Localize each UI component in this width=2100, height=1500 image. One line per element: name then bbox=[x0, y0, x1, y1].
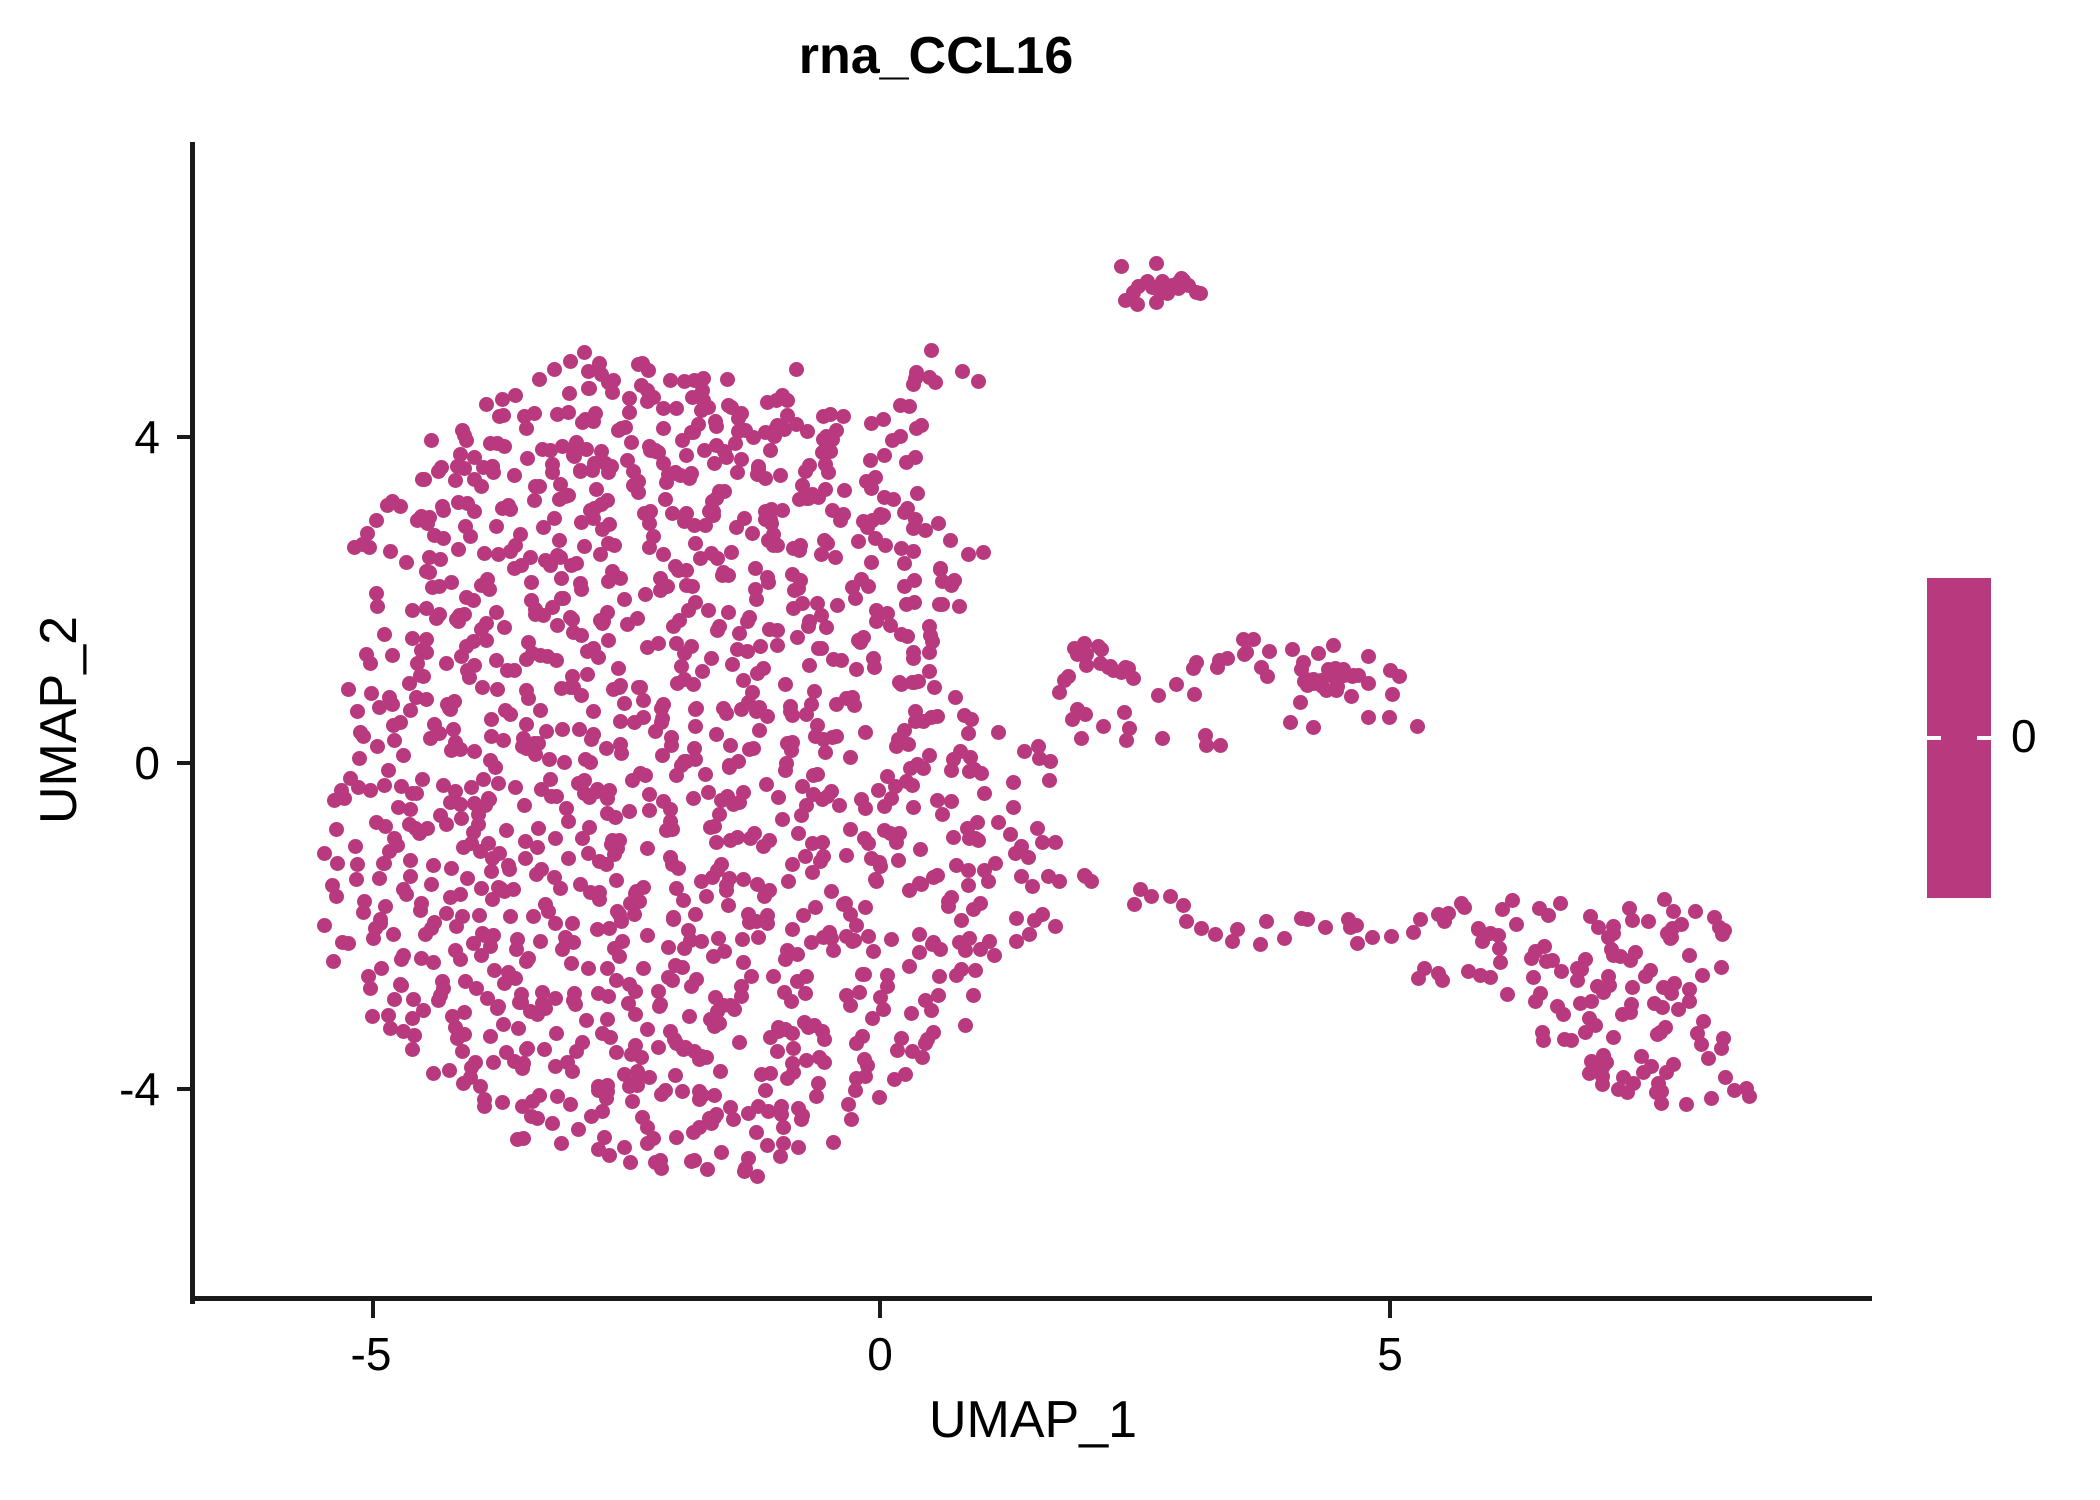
scatter-point bbox=[565, 916, 580, 931]
scatter-point bbox=[591, 986, 606, 1001]
scatter-point bbox=[867, 660, 882, 675]
scatter-point bbox=[1294, 911, 1309, 926]
scatter-point bbox=[952, 599, 967, 614]
scatter-point bbox=[725, 657, 740, 672]
scatter-point bbox=[849, 662, 864, 677]
scatter-point bbox=[836, 409, 851, 424]
scatter-point bbox=[596, 614, 611, 629]
scatter-point bbox=[663, 802, 678, 817]
scatter-point bbox=[721, 898, 736, 913]
scatter-point bbox=[844, 1112, 859, 1127]
scatter-point bbox=[431, 993, 446, 1008]
scatter-point bbox=[385, 648, 400, 663]
scatter-point bbox=[1384, 929, 1399, 944]
scatter-point bbox=[548, 831, 563, 846]
scatter-point bbox=[1410, 719, 1425, 734]
scatter-point bbox=[784, 994, 799, 1009]
scatter-point bbox=[636, 710, 651, 725]
scatter-point bbox=[793, 538, 808, 553]
scatter-point bbox=[961, 726, 976, 741]
scatter-point bbox=[903, 761, 918, 776]
scatter-point bbox=[770, 638, 785, 653]
scatter-point bbox=[467, 504, 482, 519]
scatter-point bbox=[467, 744, 482, 759]
scatter-point bbox=[496, 1017, 511, 1032]
scatter-point bbox=[790, 630, 805, 645]
scatter-point bbox=[726, 1112, 741, 1127]
scatter-point bbox=[781, 874, 796, 889]
scatter-point bbox=[988, 856, 1003, 871]
scatter-point bbox=[1716, 1031, 1731, 1046]
scatter-point bbox=[1599, 1055, 1614, 1070]
scatter-point bbox=[763, 1066, 778, 1081]
scatter-point bbox=[568, 997, 583, 1012]
scatter-point bbox=[991, 725, 1006, 740]
scatter-point bbox=[557, 755, 572, 770]
scatter-point bbox=[622, 405, 637, 420]
scatter-point bbox=[971, 374, 986, 389]
scatter-point bbox=[679, 448, 694, 463]
scatter-point bbox=[495, 1095, 510, 1110]
scatter-point bbox=[622, 804, 637, 819]
x-tick-label-5: 5 bbox=[1320, 1327, 1460, 1381]
scatter-point bbox=[943, 533, 958, 548]
scatter-point bbox=[857, 831, 872, 846]
scatter-point bbox=[724, 545, 739, 560]
scatter-point bbox=[1638, 969, 1653, 984]
scatter-point bbox=[749, 1125, 764, 1140]
scatter-point bbox=[1718, 1070, 1733, 1085]
scatter-point bbox=[1230, 922, 1245, 937]
scatter-point bbox=[824, 884, 839, 899]
scatter-point bbox=[1406, 925, 1421, 940]
scatter-point bbox=[1588, 1018, 1603, 1033]
scatter-point bbox=[591, 1083, 606, 1098]
scatter-point bbox=[486, 1055, 501, 1070]
scatter-point bbox=[569, 1044, 584, 1059]
scatter-point bbox=[802, 658, 817, 673]
scatter-point bbox=[553, 881, 568, 896]
scatter-point bbox=[403, 802, 418, 817]
scatter-point bbox=[1025, 879, 1040, 894]
scatter-point bbox=[961, 878, 976, 893]
y-axis-title: UMAP_2 bbox=[29, 370, 89, 1070]
scatter-point bbox=[499, 823, 514, 838]
scatter-point bbox=[823, 407, 838, 422]
scatter-point bbox=[760, 1138, 775, 1153]
scatter-point bbox=[1688, 904, 1703, 919]
scatter-point bbox=[387, 992, 402, 1007]
scatter-point bbox=[533, 934, 548, 949]
scatter-point bbox=[779, 756, 794, 771]
scatter-point bbox=[405, 603, 420, 618]
scatter-point bbox=[583, 755, 598, 770]
scatter-point bbox=[661, 940, 676, 955]
scatter-point bbox=[904, 1006, 919, 1021]
scatter-point bbox=[393, 499, 408, 514]
scatter-point bbox=[591, 1142, 606, 1157]
scatter-point bbox=[665, 973, 680, 988]
scatter-point bbox=[453, 797, 468, 812]
scatter-point bbox=[537, 1042, 552, 1057]
scatter-point bbox=[417, 472, 432, 487]
scatter-point bbox=[708, 990, 723, 1005]
scatter-point bbox=[1030, 821, 1045, 836]
scatter-point bbox=[1118, 293, 1133, 308]
scatter-point bbox=[490, 1001, 505, 1016]
scatter-point bbox=[820, 789, 835, 804]
scatter-point bbox=[403, 853, 418, 868]
scatter-point bbox=[758, 1083, 773, 1098]
scatter-point bbox=[457, 1005, 472, 1020]
scatter-point bbox=[799, 1053, 814, 1068]
scatter-point bbox=[858, 725, 873, 740]
scatter-point bbox=[796, 908, 811, 923]
scatter-point bbox=[609, 873, 624, 888]
scatter-point bbox=[924, 343, 939, 358]
scatter-point bbox=[1664, 986, 1679, 1001]
scatter-point bbox=[730, 465, 745, 480]
scatter-point bbox=[1500, 987, 1515, 1002]
scatter-point bbox=[941, 899, 956, 914]
scatter-point bbox=[1564, 1033, 1579, 1048]
scatter-point bbox=[709, 419, 724, 434]
scatter-point bbox=[1537, 939, 1552, 954]
scatter-point bbox=[762, 883, 777, 898]
scatter-point bbox=[966, 902, 981, 917]
scatter-point bbox=[704, 651, 719, 666]
scatter-point bbox=[1186, 661, 1201, 676]
scatter-point bbox=[817, 1032, 832, 1047]
scatter-point bbox=[519, 717, 534, 732]
scatter-point bbox=[520, 451, 535, 466]
scatter-point bbox=[635, 356, 650, 371]
scatter-point bbox=[1385, 687, 1400, 702]
scatter-point bbox=[1509, 917, 1524, 932]
scatter-point bbox=[742, 610, 757, 625]
scatter-point bbox=[682, 471, 697, 486]
scatter-point bbox=[1253, 937, 1268, 952]
scatter-point bbox=[877, 448, 892, 463]
scatter-point bbox=[592, 854, 607, 869]
scatter-point bbox=[908, 450, 923, 465]
scatter-point bbox=[490, 682, 505, 697]
x-tick-mark-neg5 bbox=[371, 1301, 375, 1318]
scatter-point bbox=[1623, 1005, 1638, 1020]
scatter-point bbox=[544, 789, 559, 804]
scatter-point bbox=[1361, 676, 1376, 691]
scatter-point bbox=[554, 1136, 569, 1151]
scatter-point bbox=[477, 546, 492, 561]
scatter-point bbox=[774, 1107, 789, 1122]
colorbar-label-0: 0 bbox=[2011, 709, 2037, 763]
scatter-point bbox=[526, 909, 541, 924]
scatter-point bbox=[1017, 744, 1032, 759]
scatter-point bbox=[1096, 719, 1111, 734]
scatter-point bbox=[586, 727, 601, 742]
scatter-point bbox=[932, 969, 947, 984]
scatter-point bbox=[363, 783, 378, 798]
scatter-point bbox=[561, 814, 576, 829]
scatter-point bbox=[894, 541, 909, 556]
scatter-point bbox=[694, 403, 709, 418]
scatter-point bbox=[1382, 710, 1397, 725]
scatter-point bbox=[508, 780, 523, 795]
scatter-point bbox=[1006, 775, 1021, 790]
scatter-point bbox=[778, 677, 793, 692]
scatter-point bbox=[463, 529, 478, 544]
scatter-point bbox=[719, 883, 734, 898]
scatter-point bbox=[954, 913, 969, 928]
scatter-point bbox=[760, 916, 775, 931]
scatter-point bbox=[1411, 971, 1426, 986]
scatter-point bbox=[582, 790, 597, 805]
scatter-point bbox=[542, 752, 557, 767]
scatter-point bbox=[426, 858, 441, 873]
scatter-point bbox=[1127, 897, 1142, 912]
scatter-point bbox=[492, 846, 507, 861]
scatter-point bbox=[964, 712, 979, 727]
page-title: rna_CCL16 bbox=[0, 26, 1872, 86]
scatter-point bbox=[858, 900, 873, 915]
scatter-point bbox=[589, 482, 604, 497]
scatter-point bbox=[682, 1009, 697, 1024]
scatter-point bbox=[483, 939, 498, 954]
scatter-point bbox=[766, 538, 781, 553]
scatter-point bbox=[612, 949, 627, 964]
scatter-point bbox=[495, 501, 510, 516]
scatter-point bbox=[453, 952, 468, 967]
scatter-point bbox=[675, 960, 690, 975]
scatter-point bbox=[418, 927, 433, 942]
scatter-point bbox=[646, 1131, 661, 1146]
scatter-point bbox=[734, 979, 749, 994]
scatter-point bbox=[638, 587, 653, 602]
scatter-point bbox=[554, 571, 569, 586]
scatter-point bbox=[794, 1112, 809, 1127]
scatter-point bbox=[665, 857, 680, 872]
scatter-point bbox=[695, 664, 710, 679]
scatter-point bbox=[1682, 948, 1697, 963]
scatter-point bbox=[545, 600, 560, 615]
scatter-point bbox=[508, 388, 523, 403]
scatter-point bbox=[419, 692, 434, 707]
scatter-point bbox=[1293, 695, 1308, 710]
scatter-point bbox=[1074, 731, 1089, 746]
scatter-point bbox=[1311, 646, 1326, 661]
scatter-point bbox=[1641, 914, 1656, 929]
scatter-point bbox=[1344, 689, 1359, 704]
scatter-point bbox=[1084, 874, 1099, 889]
scatter-point bbox=[727, 1002, 742, 1017]
scatter-point bbox=[484, 864, 499, 879]
scatter-point bbox=[317, 918, 332, 933]
scatter-point bbox=[630, 1078, 645, 1093]
scatter-point bbox=[786, 1041, 801, 1056]
scatter-point bbox=[709, 491, 724, 506]
scatter-point bbox=[1596, 985, 1611, 1000]
scatter-point bbox=[563, 354, 578, 369]
scatter-point bbox=[1714, 960, 1729, 975]
scatter-point bbox=[688, 702, 703, 717]
scatter-point bbox=[457, 1027, 472, 1042]
scatter-point bbox=[625, 773, 640, 788]
scatter-point bbox=[700, 1162, 715, 1177]
scatter-point bbox=[833, 513, 848, 528]
scatter-point bbox=[640, 1022, 655, 1037]
scatter-point bbox=[1361, 649, 1376, 664]
scatter-point bbox=[548, 916, 563, 931]
scatter-point bbox=[383, 544, 398, 559]
scatter-point bbox=[905, 778, 920, 793]
scatter-point bbox=[642, 540, 657, 555]
scatter-point bbox=[326, 954, 341, 969]
y-tick-mark-0 bbox=[177, 761, 194, 765]
scatter-point bbox=[826, 1135, 841, 1150]
scatter-point bbox=[654, 715, 669, 730]
scatter-point bbox=[684, 639, 699, 654]
scatter-point bbox=[449, 919, 464, 934]
scatter-point bbox=[521, 951, 536, 966]
scatter-point bbox=[656, 421, 671, 436]
scatter-point bbox=[475, 680, 490, 695]
scatter-point bbox=[760, 709, 775, 724]
scatter-point bbox=[370, 599, 385, 614]
scatter-point bbox=[858, 801, 873, 816]
scatter-point bbox=[439, 817, 454, 832]
scatter-point bbox=[1194, 921, 1209, 936]
scatter-point bbox=[350, 704, 365, 719]
scatter-point bbox=[642, 787, 657, 802]
scatter-point bbox=[640, 841, 655, 856]
scatter-point bbox=[1262, 644, 1277, 659]
scatter-point bbox=[814, 547, 829, 562]
scatter-point bbox=[710, 863, 725, 878]
scatter-point bbox=[703, 820, 718, 835]
scatter-point bbox=[946, 830, 961, 845]
scatter-point bbox=[709, 835, 724, 850]
y-tick-mark-4 bbox=[177, 435, 194, 439]
scatter-point bbox=[607, 847, 622, 862]
scatter-point bbox=[922, 619, 937, 634]
scatter-point bbox=[780, 943, 795, 958]
scatter-point bbox=[776, 1120, 791, 1135]
scatter-point bbox=[1285, 642, 1300, 657]
scatter-point bbox=[601, 574, 616, 589]
scatter-point bbox=[613, 714, 628, 729]
scatter-point bbox=[668, 1068, 683, 1083]
scatter-point bbox=[640, 928, 655, 943]
scatter-point bbox=[845, 934, 860, 949]
scatter-point bbox=[642, 516, 657, 531]
scatter-point bbox=[564, 956, 579, 971]
scatter-point bbox=[868, 531, 883, 546]
scatter-point bbox=[1078, 707, 1093, 722]
scatter-point bbox=[1126, 671, 1141, 686]
scatter-point bbox=[773, 468, 788, 483]
scatter-point bbox=[547, 362, 562, 377]
scatter-point bbox=[756, 839, 771, 854]
scatter-point bbox=[1149, 295, 1164, 310]
scatter-point bbox=[877, 799, 892, 814]
scatter-point bbox=[785, 1026, 800, 1041]
scatter-point bbox=[709, 727, 724, 742]
scatter-point bbox=[1260, 669, 1275, 684]
scatter-point bbox=[640, 394, 655, 409]
scatter-point bbox=[656, 547, 671, 562]
scatter-point bbox=[927, 680, 942, 695]
scatter-point bbox=[1009, 911, 1024, 926]
scatter-point bbox=[1679, 1097, 1694, 1112]
scatter-point bbox=[582, 381, 597, 396]
scatter-point bbox=[798, 464, 813, 479]
scatter-point bbox=[642, 803, 657, 818]
scatter-point bbox=[424, 877, 439, 892]
scatter-point bbox=[954, 962, 969, 977]
scatter-point bbox=[562, 386, 577, 401]
scatter-point bbox=[723, 738, 738, 753]
scatter-point bbox=[536, 520, 551, 535]
scatter-point bbox=[679, 563, 694, 578]
scatter-point bbox=[552, 533, 567, 548]
scatter-point bbox=[655, 748, 670, 763]
scatter-point bbox=[1326, 638, 1341, 653]
scatter-point bbox=[1361, 710, 1376, 725]
scatter-point bbox=[805, 865, 820, 880]
scatter-point bbox=[356, 905, 371, 920]
scatter-point bbox=[676, 893, 691, 908]
scatter-point bbox=[1187, 687, 1202, 702]
scatter-point bbox=[374, 961, 389, 976]
scatter-point bbox=[851, 534, 866, 549]
scatter-point bbox=[555, 722, 570, 737]
scatter-point bbox=[1114, 259, 1129, 274]
scatter-point bbox=[906, 645, 921, 660]
scatter-point bbox=[947, 573, 962, 588]
scatter-point bbox=[1595, 1077, 1610, 1092]
scatter-point bbox=[604, 459, 619, 474]
scatter-point bbox=[396, 748, 411, 763]
scatter-point bbox=[1556, 1007, 1571, 1022]
scatter-point bbox=[612, 680, 627, 695]
scatter-point bbox=[611, 423, 626, 438]
scatter-point bbox=[350, 857, 365, 872]
scatter-point bbox=[330, 856, 345, 871]
scatter-point bbox=[1524, 951, 1539, 966]
scatter-point bbox=[575, 415, 590, 430]
scatter-point bbox=[533, 648, 548, 663]
scatter-point bbox=[770, 1044, 785, 1059]
scatter-point bbox=[451, 495, 466, 510]
scatter-point bbox=[515, 1061, 530, 1076]
scatter-point bbox=[908, 371, 923, 386]
scatter-point bbox=[962, 831, 977, 846]
scatter-point bbox=[369, 513, 384, 528]
scatter-point bbox=[410, 656, 425, 671]
scatter-point bbox=[1526, 970, 1541, 985]
scatter-point bbox=[1671, 1002, 1686, 1017]
scatter-point bbox=[1022, 927, 1037, 942]
scatter-point bbox=[913, 842, 928, 857]
scatter-point bbox=[1365, 930, 1380, 945]
scatter-point bbox=[857, 967, 872, 982]
scatter-point bbox=[444, 575, 459, 590]
scatter-point bbox=[507, 468, 522, 483]
scatter-point bbox=[889, 835, 904, 850]
scatter-point bbox=[1094, 642, 1109, 657]
scatter-point bbox=[595, 522, 610, 537]
scatter-point bbox=[856, 514, 871, 529]
